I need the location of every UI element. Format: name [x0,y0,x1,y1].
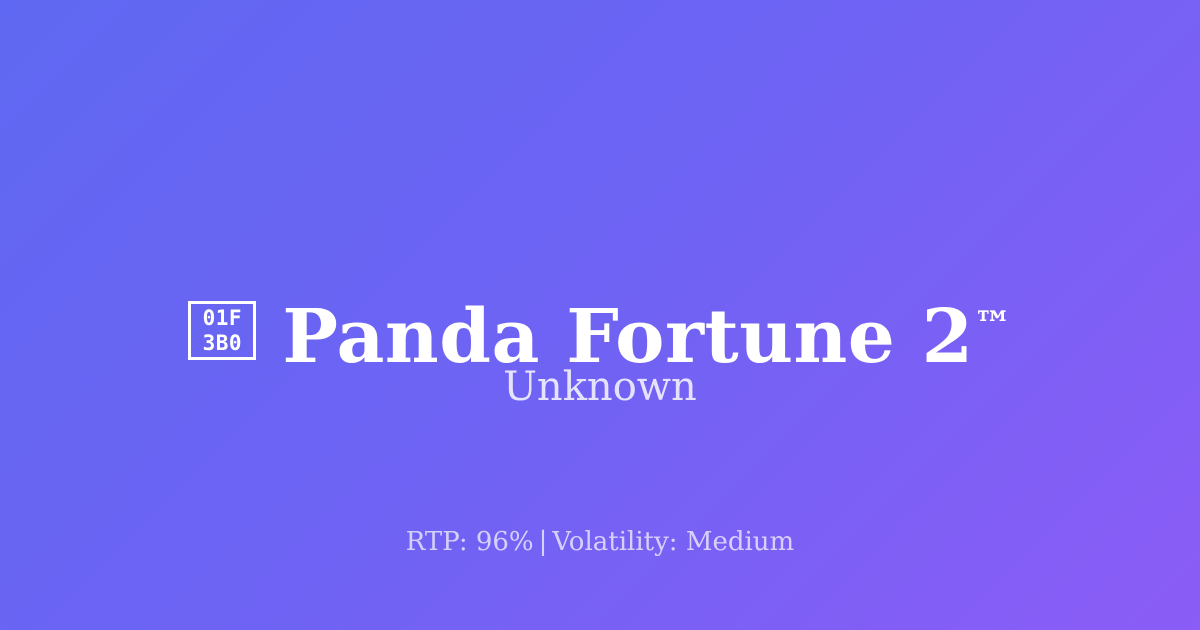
game-provider: Unknown [0,360,1200,414]
game-preview-card: 01F 3B0 Panda Fortune 2™ Unknown RTP: 96… [0,0,1200,630]
rtp-value: RTP: 96% [406,527,534,557]
slot-machine-icon-codepoint-low: 3B0 [203,331,242,356]
meta-separator: | [534,527,553,557]
slot-machine-icon-codepoint-high: 01F [203,306,242,331]
slot-machine-icon: 01F 3B0 [188,301,256,360]
volatility-value: Volatility: Medium [552,527,794,557]
game-meta: RTP: 96%|Volatility: Medium [0,524,1200,560]
trademark-symbol: ™ [974,302,1012,347]
